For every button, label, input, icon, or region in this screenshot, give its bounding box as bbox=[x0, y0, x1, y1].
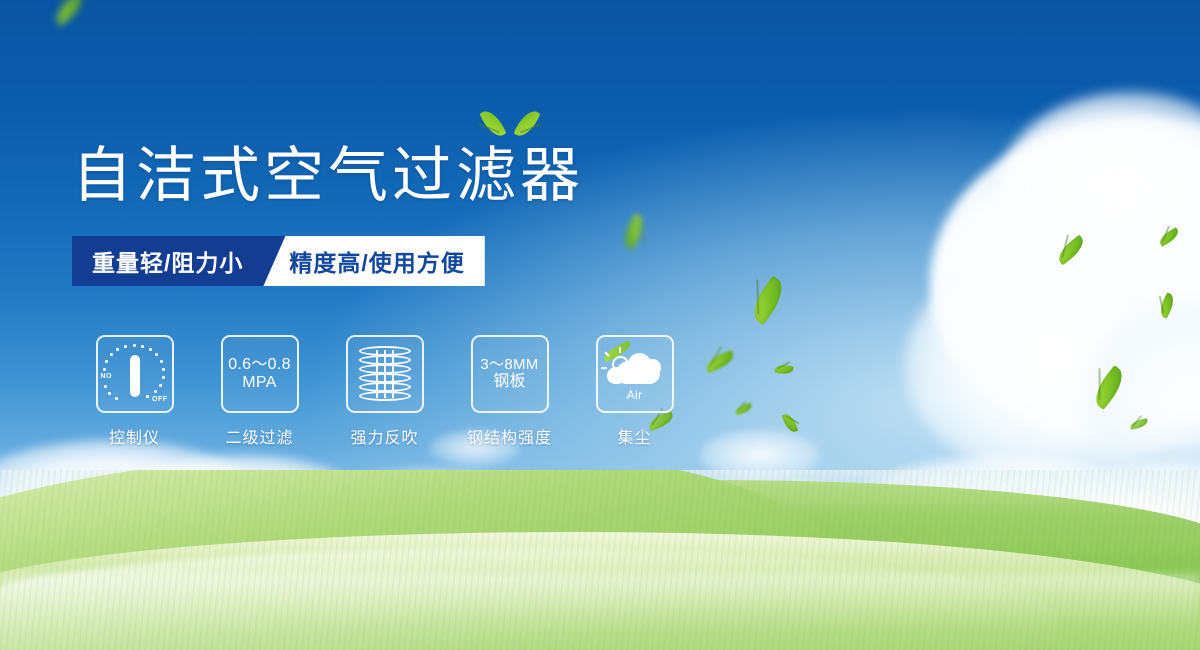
feature-icon-box: 3～8MM 钢板 bbox=[471, 335, 549, 413]
feature-item-two-stage-filtration[interactable]: 0.6～0.8 MPA 二级过滤 bbox=[197, 335, 322, 448]
feature-label: 二级过滤 bbox=[225, 424, 293, 448]
promo-banner: 自洁式空气过滤器 重量轻/阻力小 精度高/使用方便 bbox=[0, 0, 1200, 650]
steel-plate-material: 钢板 bbox=[493, 373, 526, 391]
feature-label: 强力反吹 bbox=[350, 424, 418, 448]
gauge-needle bbox=[130, 355, 140, 397]
subtitle-right-panel: 精度高/使用方便 bbox=[263, 236, 484, 286]
feature-item-dust-collection[interactable]: Air 集尘 bbox=[572, 335, 697, 448]
feature-icon-box: NO OFF bbox=[96, 335, 174, 413]
pressure-icon-unit: MPA bbox=[242, 374, 276, 392]
feature-list: NO OFF 控制仪 0.6～0.8 MPA 二级过滤 bbox=[72, 335, 697, 448]
feature-item-steel-structure-strength[interactable]: 3～8MM 钢板 钢结构强度 bbox=[447, 335, 572, 448]
cloud-body bbox=[616, 361, 660, 384]
pressure-icon-value: 0.6～0.8 bbox=[228, 356, 291, 374]
feature-item-control-instrument[interactable]: NO OFF 控制仪 bbox=[72, 335, 197, 448]
grass-texture bbox=[0, 470, 1200, 650]
subtitle-left-panel: 重量轻/阻力小 bbox=[72, 236, 285, 286]
feature-label: 集尘 bbox=[617, 424, 651, 448]
grass-field bbox=[0, 470, 1200, 650]
subtitle-bar: 重量轻/阻力小 精度高/使用方便 bbox=[72, 236, 485, 286]
gauge-label-no: NO bbox=[101, 373, 113, 380]
feature-item-strong-blowback[interactable]: 强力反吹 bbox=[322, 335, 447, 448]
feature-icon-box: 0.6～0.8 MPA bbox=[221, 335, 299, 413]
feature-label: 钢结构强度 bbox=[467, 424, 552, 448]
air-label: Air bbox=[604, 388, 666, 402]
gauge-label-off: OFF bbox=[152, 396, 168, 403]
air-cloud-icon: Air bbox=[604, 349, 666, 399]
feature-label: 控制仪 bbox=[109, 424, 160, 448]
feature-icon-box: Air bbox=[596, 335, 674, 413]
page-title: 自洁式空气过滤器 bbox=[72, 144, 584, 207]
coil-icon bbox=[359, 346, 411, 402]
steel-plate-thickness: 3～8MM bbox=[480, 356, 538, 373]
gauge-icon: NO OFF bbox=[102, 343, 168, 405]
feature-icon-box bbox=[346, 335, 424, 413]
